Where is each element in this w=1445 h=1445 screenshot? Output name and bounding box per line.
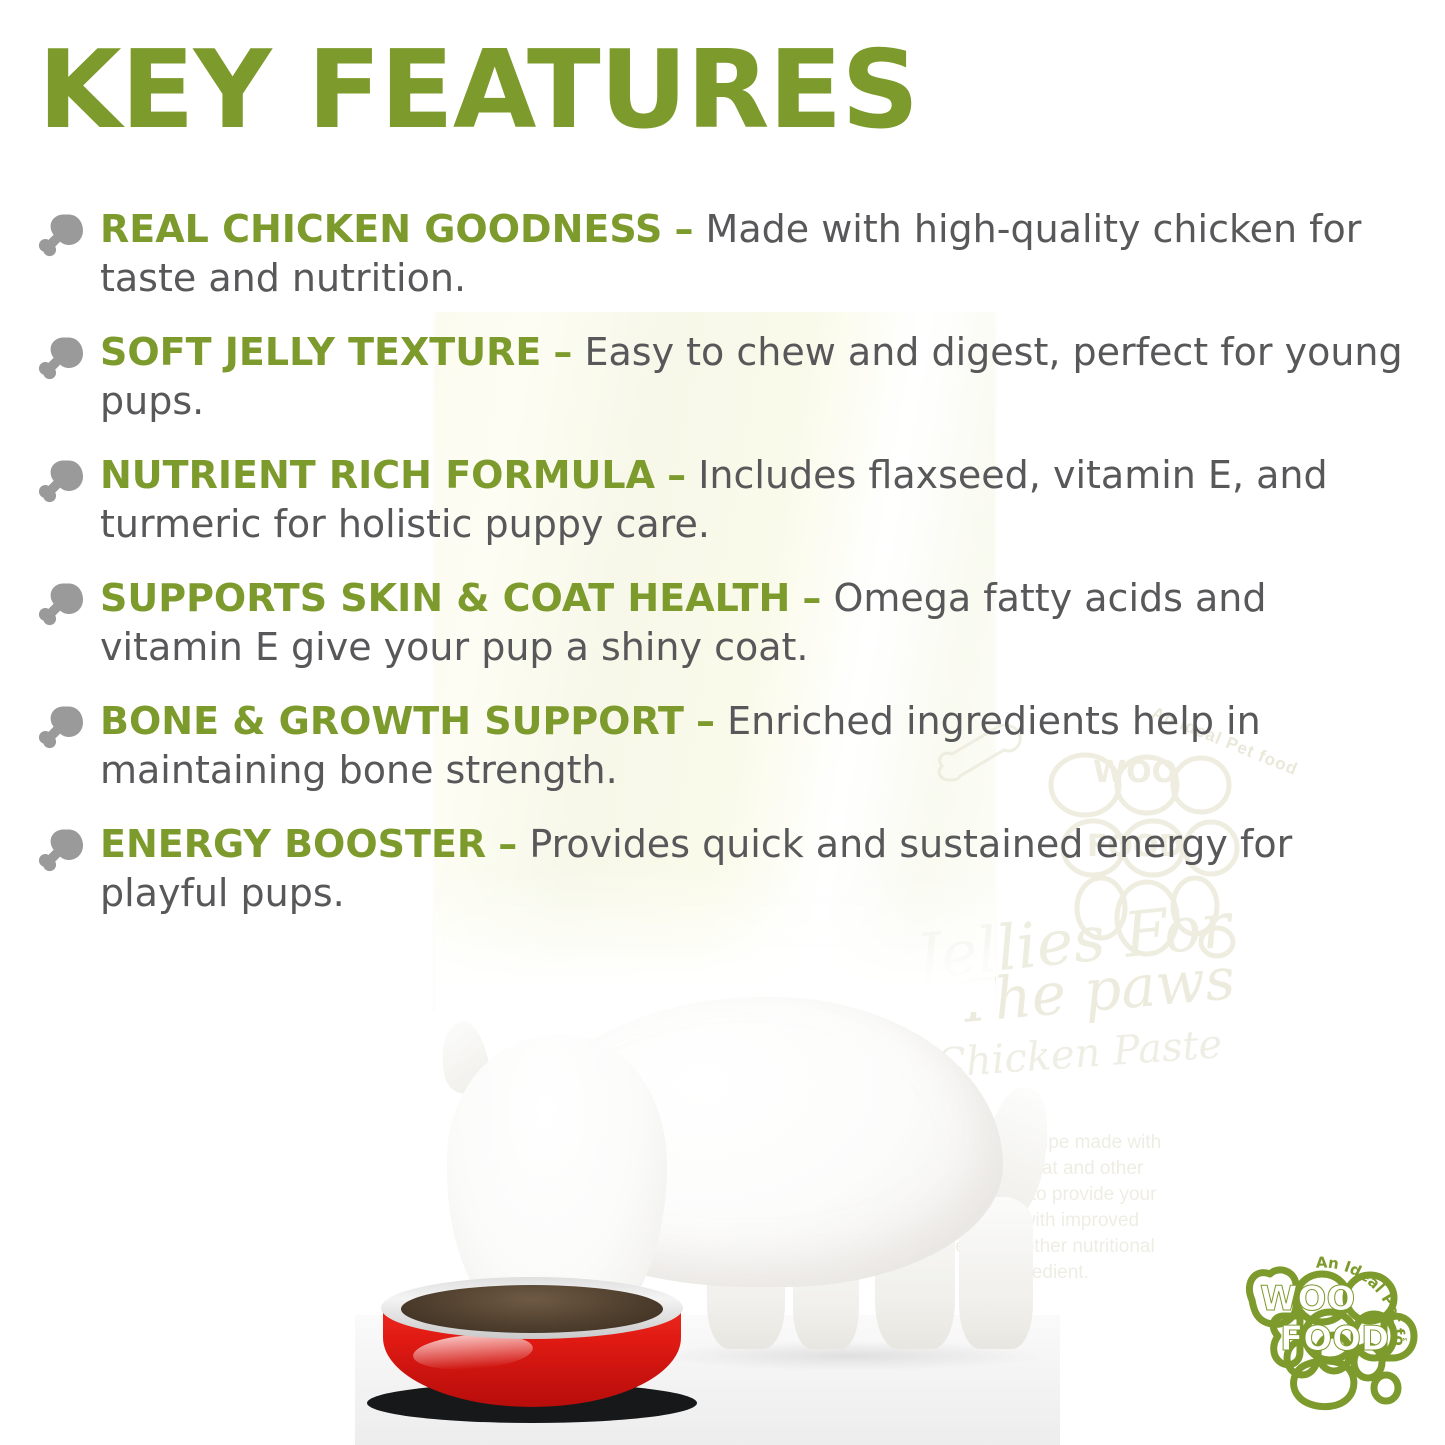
feature-title: REAL CHICKEN GOODNESS <box>100 207 662 251</box>
feature-list: REAL CHICKEN GOODNESS – Made with high-q… <box>26 205 1418 943</box>
drumstick-icon <box>38 828 84 880</box>
feature-title: SUPPORTS SKIN & COAT HEALTH <box>100 576 790 620</box>
drumstick-icon <box>38 705 84 757</box>
feature-title: BONE & GROWTH SUPPORT <box>100 699 684 743</box>
brand-word-top: WOO <box>1260 1279 1355 1319</box>
feature-dash: – <box>696 699 715 743</box>
brand-word-bottom: FOOD <box>1280 1319 1389 1359</box>
feature-dash: – <box>802 576 821 620</box>
trademark-symbol: ™ <box>1398 1336 1409 1349</box>
bowl-interior <box>401 1285 663 1333</box>
brand-logo: An Ideal Pet food ™ WOO F <box>1222 1240 1422 1415</box>
feature-item: SOFT JELLY TEXTURE – Easy to chew and di… <box>26 328 1418 426</box>
key-features-page: WOO FOOD An Ideal Pet food Jellies For T… <box>0 0 1445 1445</box>
feature-item: ENERGY BOOSTER – Provides quick and sust… <box>26 820 1418 918</box>
feature-title: SOFT JELLY TEXTURE <box>100 330 541 374</box>
feature-dash: – <box>553 330 572 374</box>
feature-title: NUTRIENT RICH FORMULA <box>100 453 655 497</box>
dog-food-bowl <box>367 1263 697 1423</box>
feature-item: NUTRIENT RICH FORMULA – Includes flaxsee… <box>26 451 1418 549</box>
feature-dash: – <box>498 822 517 866</box>
woo-food-logo-icon: An Ideal Pet food ™ WOO F <box>1222 1240 1422 1415</box>
drumstick-icon <box>38 459 84 511</box>
drumstick-icon <box>38 336 84 388</box>
feature-title: ENERGY BOOSTER <box>100 822 486 866</box>
feature-dash: – <box>674 207 693 251</box>
puppy-eating-photo <box>355 975 1060 1445</box>
drumstick-icon <box>38 582 84 634</box>
drumstick-icon <box>38 213 84 265</box>
feature-item: REAL CHICKEN GOODNESS – Made with high-q… <box>26 205 1418 303</box>
feature-dash: – <box>667 453 686 497</box>
page-title: KEY FEATURES <box>38 34 918 147</box>
feature-item: SUPPORTS SKIN & COAT HEALTH – Omega fatt… <box>26 574 1418 672</box>
feature-item: BONE & GROWTH SUPPORT – Enriched ingredi… <box>26 697 1418 795</box>
